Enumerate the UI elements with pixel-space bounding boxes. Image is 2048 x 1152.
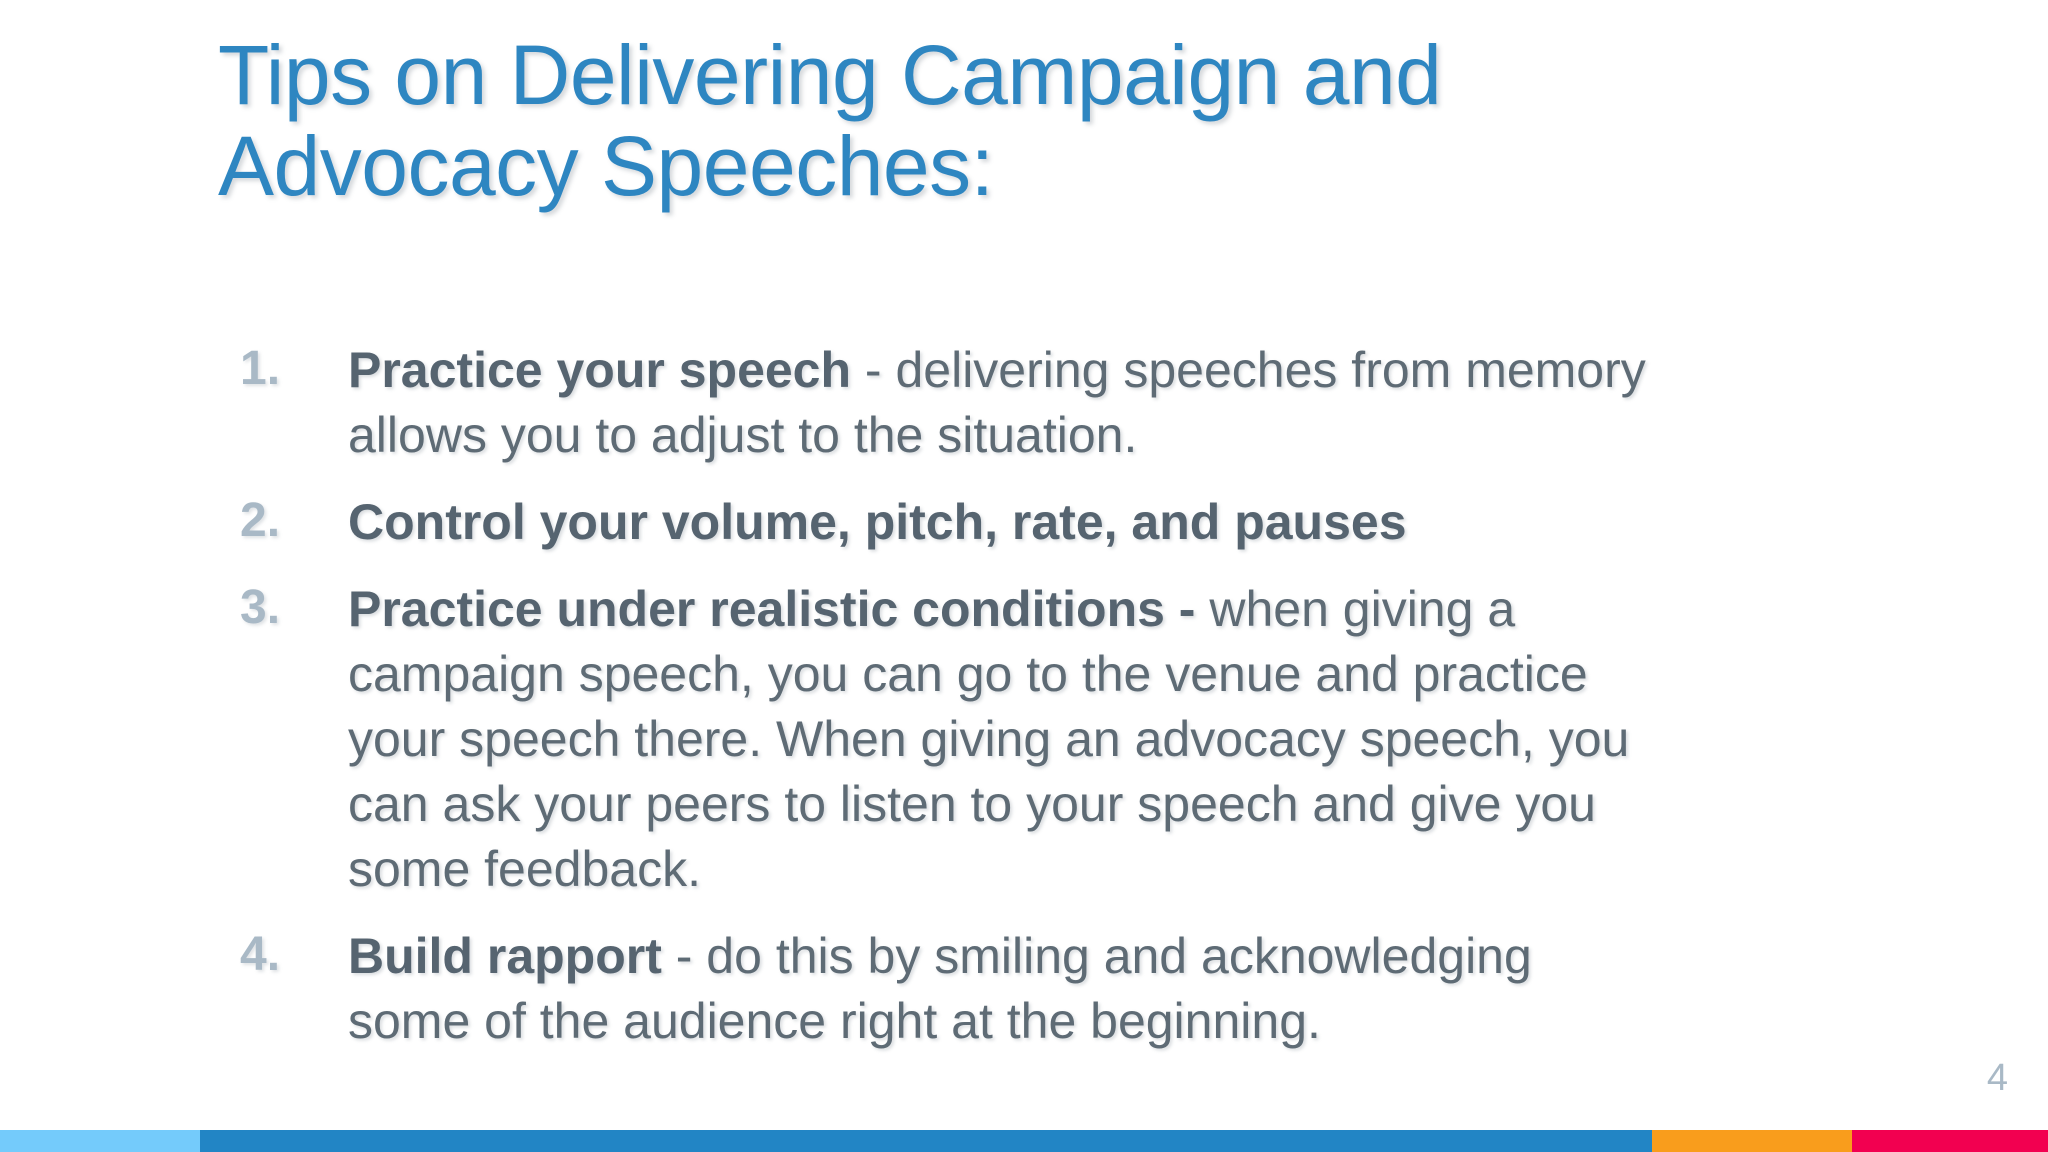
bar-segment-light-blue — [0, 1130, 200, 1152]
slide-canvas: Tips on Delivering Campaign and Advocacy… — [0, 0, 2048, 1152]
list-marker: 1. — [240, 338, 318, 400]
bar-segment-orange — [1652, 1130, 1852, 1152]
page-title: Tips on Delivering Campaign and Advocacy… — [218, 30, 1718, 211]
list-marker: 4. — [240, 924, 318, 986]
page-number: 4 — [1987, 1057, 2008, 1100]
bar-segment-blue — [200, 1130, 1652, 1152]
list-item: 1. Practice your speech - delivering spe… — [232, 338, 1652, 468]
bar-segment-pink — [1852, 1130, 2048, 1152]
bottom-decorative-bar — [0, 1130, 2048, 1152]
list-item-lead: Build rapport — [348, 928, 662, 984]
list-item-lead: Practice your speech — [348, 342, 851, 398]
tips-list: 1. Practice your speech - delivering spe… — [232, 338, 1652, 1054]
list-item: 4. Build rapport - do this by smiling an… — [232, 924, 1652, 1054]
list-item-lead: Control your volume, pitch, rate, and pa… — [348, 494, 1407, 550]
list-marker: 3. — [240, 577, 318, 639]
list-marker: 2. — [240, 490, 318, 552]
list-item: 3. Practice under realistic conditions -… — [232, 577, 1652, 902]
list-item-lead: Practice under realistic conditions - — [348, 581, 1195, 637]
list-item: 2. Control your volume, pitch, rate, and… — [232, 490, 1652, 555]
